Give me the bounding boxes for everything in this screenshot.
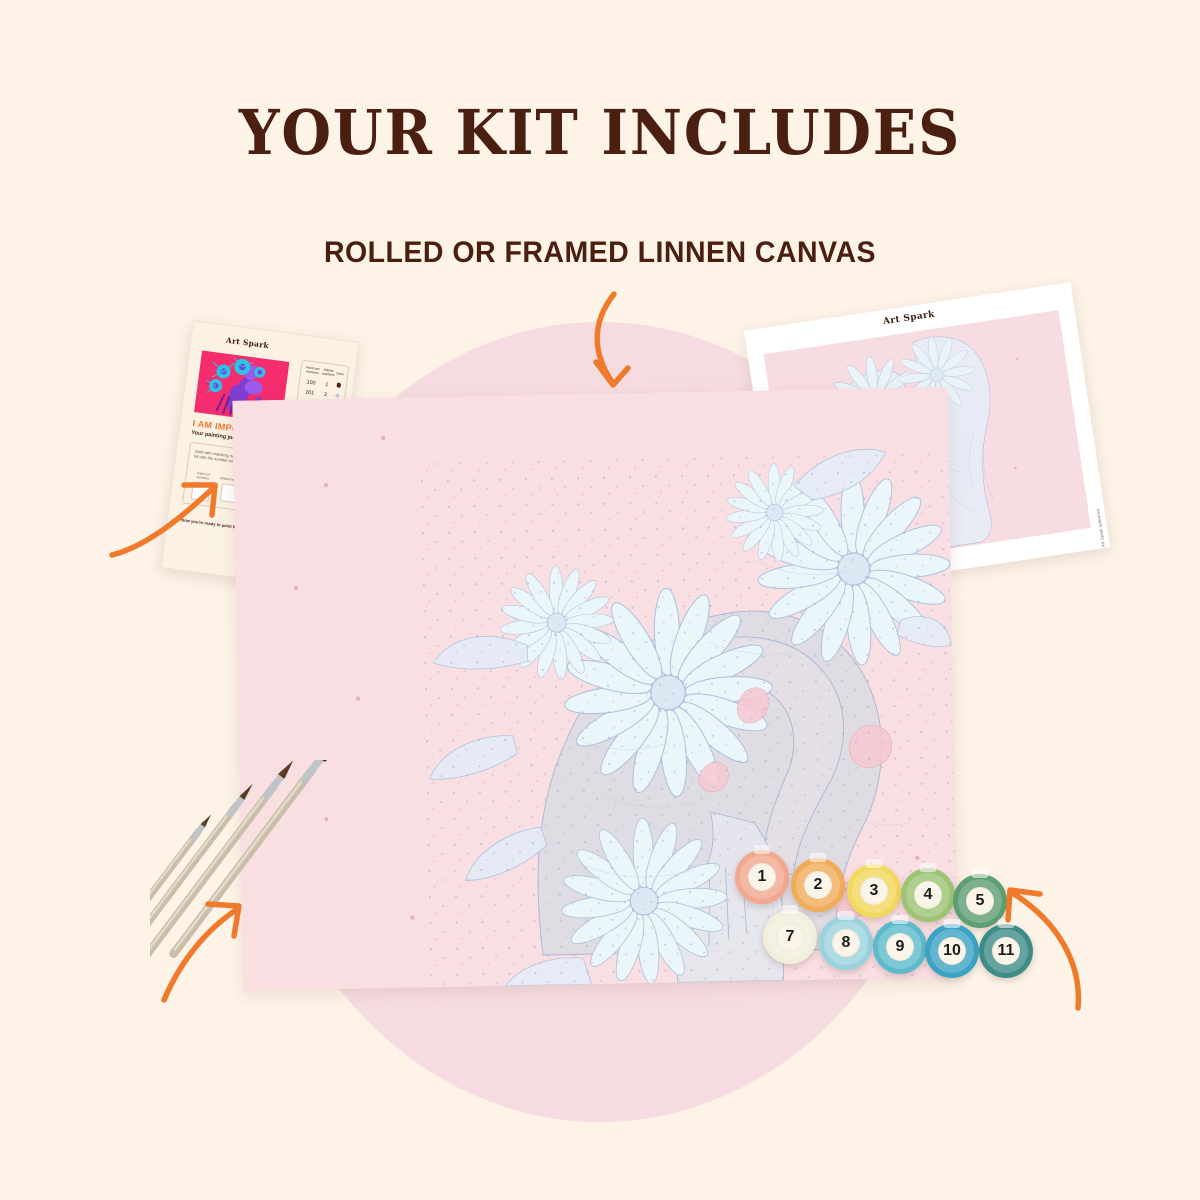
paint-pot-7[interactable]: 7 xyxy=(763,910,817,964)
canvas-caption: ROLLED OR FRAMED LINNEN CANVAS xyxy=(30,236,1170,270)
kit-includes-graphic: YOUR KIT INCLUDES ROLLED OR FRAMED LINNE… xyxy=(0,0,1200,1200)
paint-pot-3[interactable]: 3 xyxy=(847,864,901,918)
paint-pot-2[interactable]: 2 xyxy=(791,858,845,912)
arrow-to-canvas-icon xyxy=(570,282,690,402)
color-swatch xyxy=(336,383,341,388)
pot-tab xyxy=(754,845,771,854)
paint-pot-8[interactable]: 8 xyxy=(819,916,873,970)
color-swatch xyxy=(335,393,340,398)
pot-number: 4 xyxy=(914,881,942,909)
pot-number: 8 xyxy=(832,929,860,957)
arrow-to-paint-pots-icon xyxy=(988,872,1118,1012)
pot-tab xyxy=(810,853,827,862)
pot-tab xyxy=(920,863,937,872)
pot-number: 2 xyxy=(804,871,832,899)
pot-tab xyxy=(866,859,883,868)
pot-tab xyxy=(782,905,799,914)
pot-tab xyxy=(838,911,855,920)
paint-pot-1[interactable]: 1 xyxy=(735,850,789,904)
pot-number: 9 xyxy=(886,933,914,961)
reference-sheet-side-text: Art Spark reference xyxy=(1095,508,1106,547)
cell-paint-number: 101 xyxy=(301,387,319,400)
pot-number: 3 xyxy=(860,877,888,905)
arrow-to-color-guide-icon xyxy=(108,455,238,575)
arrow-to-brushes-icon xyxy=(160,880,290,1010)
page-title: YOUR KIT INCLUDES xyxy=(48,96,1152,169)
pot-tab xyxy=(892,915,909,924)
pot-number: 1 xyxy=(748,863,776,891)
pot-number: 7 xyxy=(776,923,804,951)
pot-tab xyxy=(944,919,961,928)
paint-pot-9[interactable]: 9 xyxy=(873,920,927,974)
pot-number: 10 xyxy=(938,937,966,965)
pot-tab xyxy=(972,869,989,878)
paint-pot-4[interactable]: 4 xyxy=(901,868,955,922)
paint-pot-10[interactable]: 10 xyxy=(925,924,979,978)
